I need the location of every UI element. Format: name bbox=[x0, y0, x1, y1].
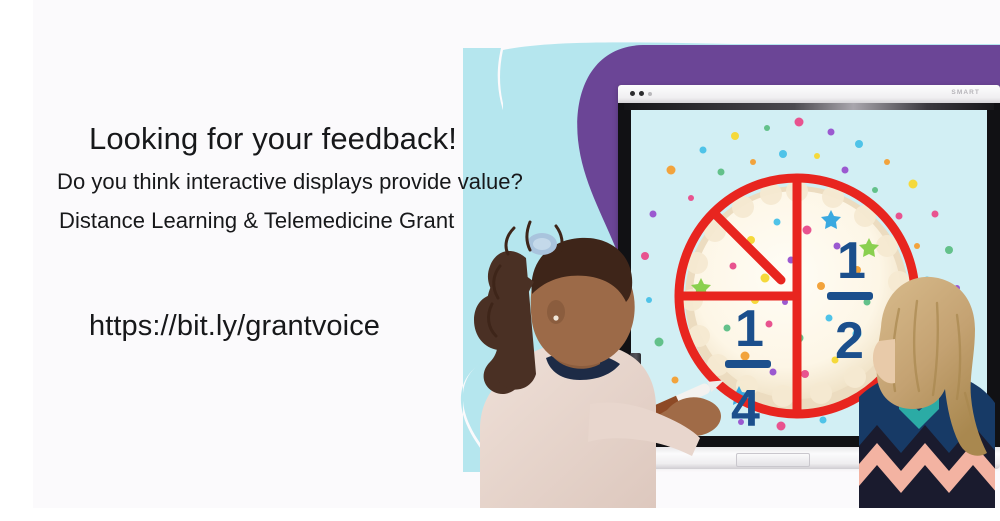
student-left bbox=[470, 208, 705, 508]
slide-canvas: SMART bbox=[33, 0, 1000, 508]
status-dot-2 bbox=[639, 91, 644, 96]
svg-text:1: 1 bbox=[735, 300, 764, 358]
smart-brand-logo: SMART bbox=[951, 89, 980, 96]
student-left-ponytail bbox=[474, 251, 536, 394]
grant-program-name: Distance Learning & Telemedicine Grant bbox=[59, 209, 553, 234]
student-right bbox=[859, 275, 1000, 508]
bezel-sheen bbox=[624, 103, 994, 110]
page-title: Looking for your feedback! bbox=[89, 122, 553, 156]
slide-text-block: Looking for your feedback! Do you think … bbox=[33, 122, 553, 233]
display-top-bezel: SMART bbox=[618, 85, 1000, 103]
feedback-question: Do you think interactive displays provid… bbox=[57, 170, 553, 195]
survey-link[interactable]: https://bit.ly/grantvoice bbox=[89, 310, 380, 343]
svg-text:4: 4 bbox=[731, 380, 760, 436]
status-dot-1 bbox=[630, 91, 635, 96]
status-dot-3 bbox=[648, 92, 652, 96]
bezel-indicator-dots bbox=[630, 91, 652, 96]
student-right-illustration bbox=[859, 275, 1000, 508]
slide-root: SMART bbox=[0, 0, 1000, 521]
student-right-face-edge bbox=[873, 339, 895, 383]
pen-tray[interactable] bbox=[736, 453, 810, 467]
student-left-illustration bbox=[470, 208, 705, 508]
